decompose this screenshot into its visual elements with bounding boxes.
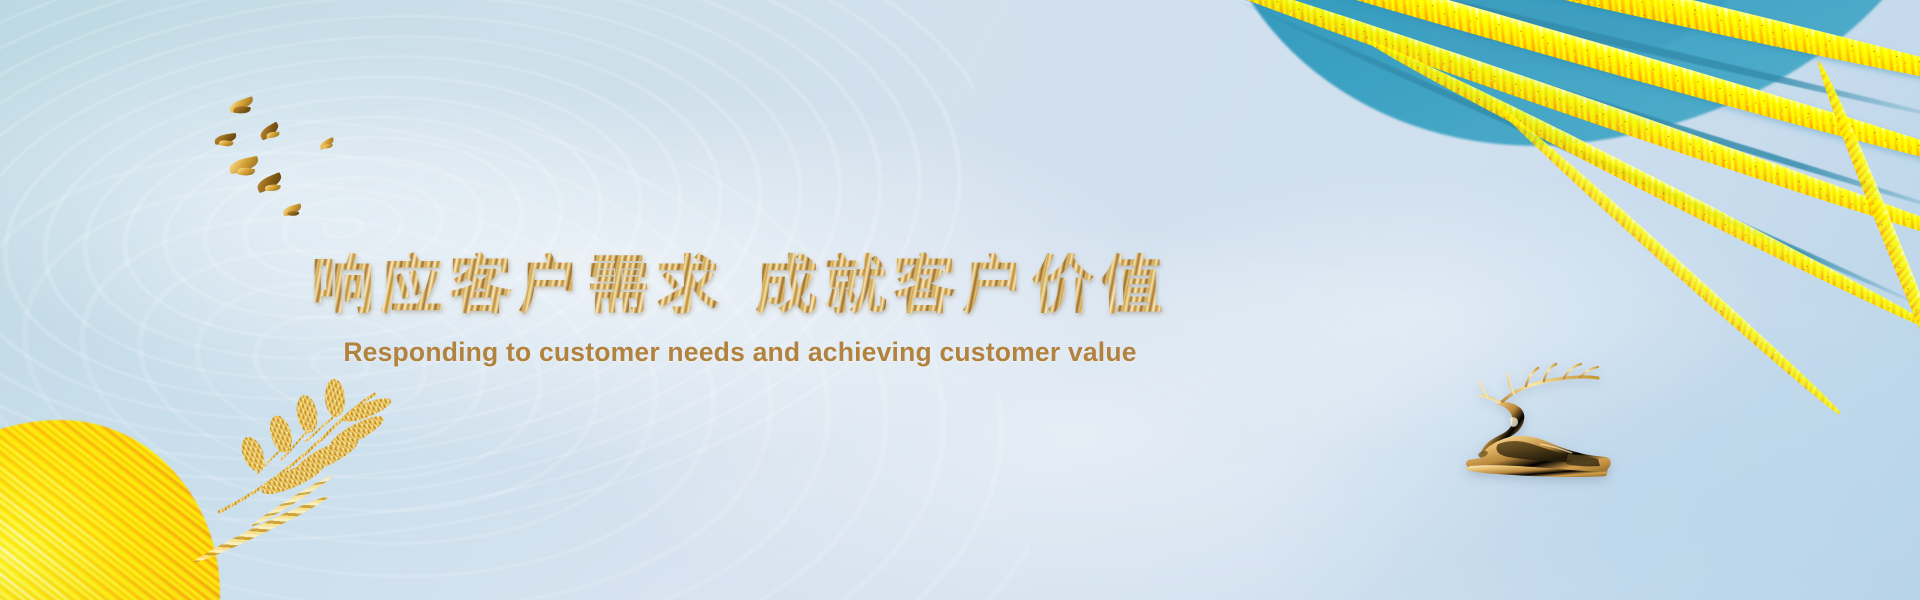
- golden-leaf-sprig-icon: [215, 370, 405, 525]
- headline-part-2: 成就客户价值: [755, 251, 1169, 321]
- golden-deer-sculpture-icon: [1440, 358, 1630, 486]
- banner-text-block: 响应客户需求成就客户价值 Responding to customer need…: [0, 252, 1480, 368]
- page-title: 响应客户需求成就客户价值: [0, 252, 1480, 320]
- page-subtitle: Responding to customer needs and achievi…: [0, 337, 1480, 368]
- headline-part-1: 响应客户需求: [311, 251, 725, 321]
- hero-banner: 响应客户需求成就客户价值 Responding to customer need…: [0, 0, 1920, 600]
